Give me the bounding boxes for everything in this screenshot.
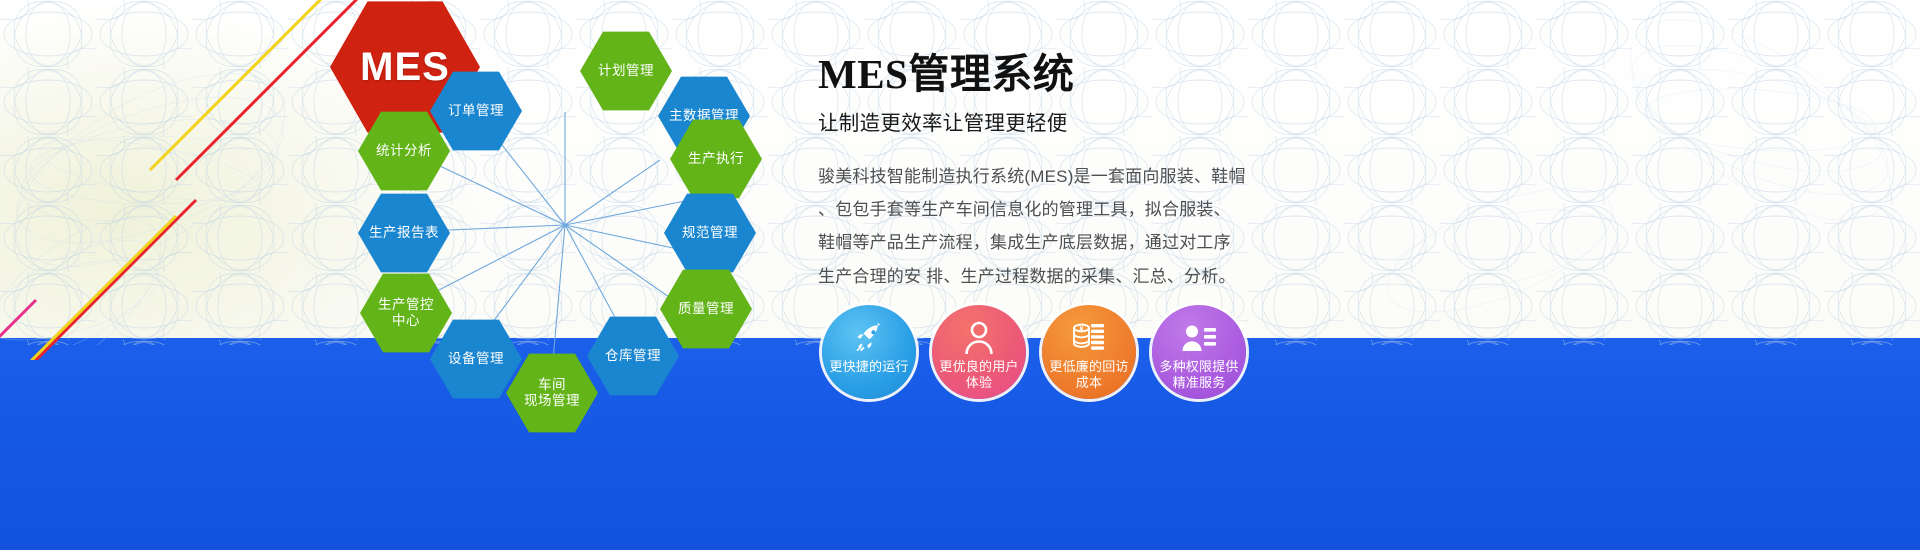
page-title: MES管理系统 bbox=[818, 52, 1288, 97]
hex-label: 规范管理 bbox=[682, 225, 738, 241]
svg-text:¥: ¥ bbox=[1080, 326, 1084, 333]
feature-badges: 更快捷的运行 更优良的用户体验 bbox=[822, 305, 1292, 405]
hex-label: 车间现场管理 bbox=[524, 377, 580, 408]
mes-marketing-banner: MES 计划管理 主数据管理 生产执行 规范管理 质量管理 仓库管理 车间现场管… bbox=[0, 0, 1920, 550]
badge-label: 多种权限提供精准服务 bbox=[1151, 359, 1247, 392]
description-line: 鞋帽等产品生产流程，集成生产底层数据，通过对工序 bbox=[818, 226, 1288, 259]
money-stack-icon: ¥ bbox=[1072, 318, 1106, 358]
hex-label: 计划管理 bbox=[598, 63, 654, 79]
description-line: 骏美科技智能制造执行系统(MES)是一套面向服装、鞋帽 bbox=[818, 160, 1288, 193]
badge-label: 更快捷的运行 bbox=[821, 359, 917, 375]
badge-label: 更优良的用户体验 bbox=[931, 359, 1027, 392]
rocket-icon bbox=[852, 318, 886, 358]
page-subtitle: 让制造更效率让管理更轻便 bbox=[818, 106, 1288, 136]
hex-label: 统计分析 bbox=[376, 143, 432, 159]
hex-label: 设备管理 bbox=[448, 351, 504, 367]
badge-lower-revisit-cost[interactable]: ¥ 更低廉的回访成本 bbox=[1042, 305, 1136, 399]
hex-label: 仓库管理 bbox=[605, 348, 661, 364]
badge-better-user-experience[interactable]: 更优良的用户体验 bbox=[932, 305, 1026, 399]
description-line: 、包包手套等生产车间信息化的管理工具，拟合服装、 bbox=[818, 193, 1288, 226]
user-permissions-icon bbox=[1181, 318, 1217, 358]
user-icon bbox=[963, 318, 995, 358]
hex-label: 质量管理 bbox=[678, 301, 734, 317]
mes-hexagon-diagram: MES 计划管理 主数据管理 生产执行 规范管理 质量管理 仓库管理 车间现场管… bbox=[330, 0, 800, 450]
banner-text-block: MES管理系统 让制造更效率让管理更轻便 骏美科技智能制造执行系统(MES)是一… bbox=[818, 52, 1288, 293]
hex-label: 生产管控中心 bbox=[378, 297, 434, 328]
hex-label: 订单管理 bbox=[448, 103, 504, 119]
hex-label: 生产执行 bbox=[688, 151, 744, 167]
hex-label: 生产报告表 bbox=[369, 225, 439, 241]
badge-label: 更低廉的回访成本 bbox=[1041, 359, 1137, 392]
description-line: 生产合理的安 排、生产过程数据的采集、汇总、分析。 bbox=[818, 260, 1288, 293]
badge-faster-operation[interactable]: 更快捷的运行 bbox=[822, 305, 916, 399]
hex-core-label: MES bbox=[360, 44, 450, 90]
description-paragraph: 骏美科技智能制造执行系统(MES)是一套面向服装、鞋帽 、包包手套等生产车间信息… bbox=[818, 160, 1288, 293]
badge-multi-permission-service[interactable]: 多种权限提供精准服务 bbox=[1152, 305, 1246, 399]
